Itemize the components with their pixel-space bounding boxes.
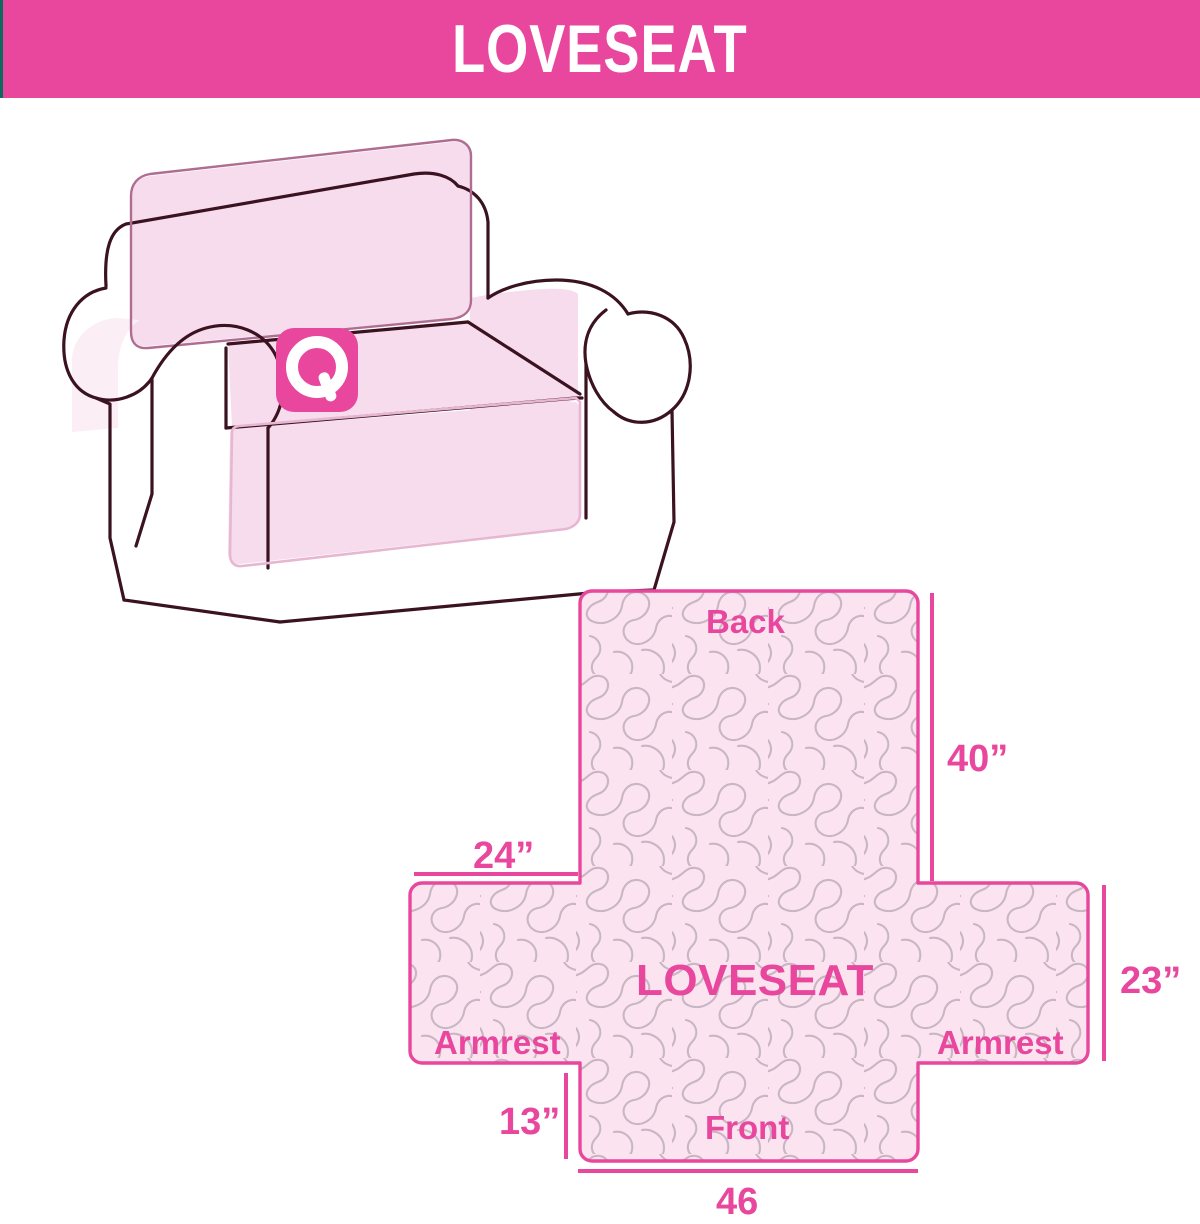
- label-front: Front: [705, 1109, 789, 1147]
- label-armrest-right: Armrest: [937, 1024, 1064, 1062]
- dimension-label-front-width: 46: [716, 1181, 758, 1224]
- label-back: Back: [706, 603, 785, 641]
- header-left-edge-stripe: [0, 0, 3, 98]
- label-center-loveseat: LOVESEAT: [636, 956, 874, 1006]
- dimension-label-back-height: 40”: [947, 738, 1008, 781]
- dimension-label-armrest-depth: 23”: [1120, 960, 1181, 1003]
- header-banner: LOVESEAT: [0, 0, 1200, 98]
- label-armrest-left: Armrest: [434, 1024, 561, 1062]
- dimension-label-front-skirt-height: 13”: [499, 1101, 560, 1144]
- dimension-label-back-offset-width: 24”: [473, 835, 534, 878]
- diagram-stage: Back Front Armrest Armrest LOVESEAT 40” …: [0, 98, 1200, 1200]
- page-title: LOVESEAT: [452, 15, 748, 83]
